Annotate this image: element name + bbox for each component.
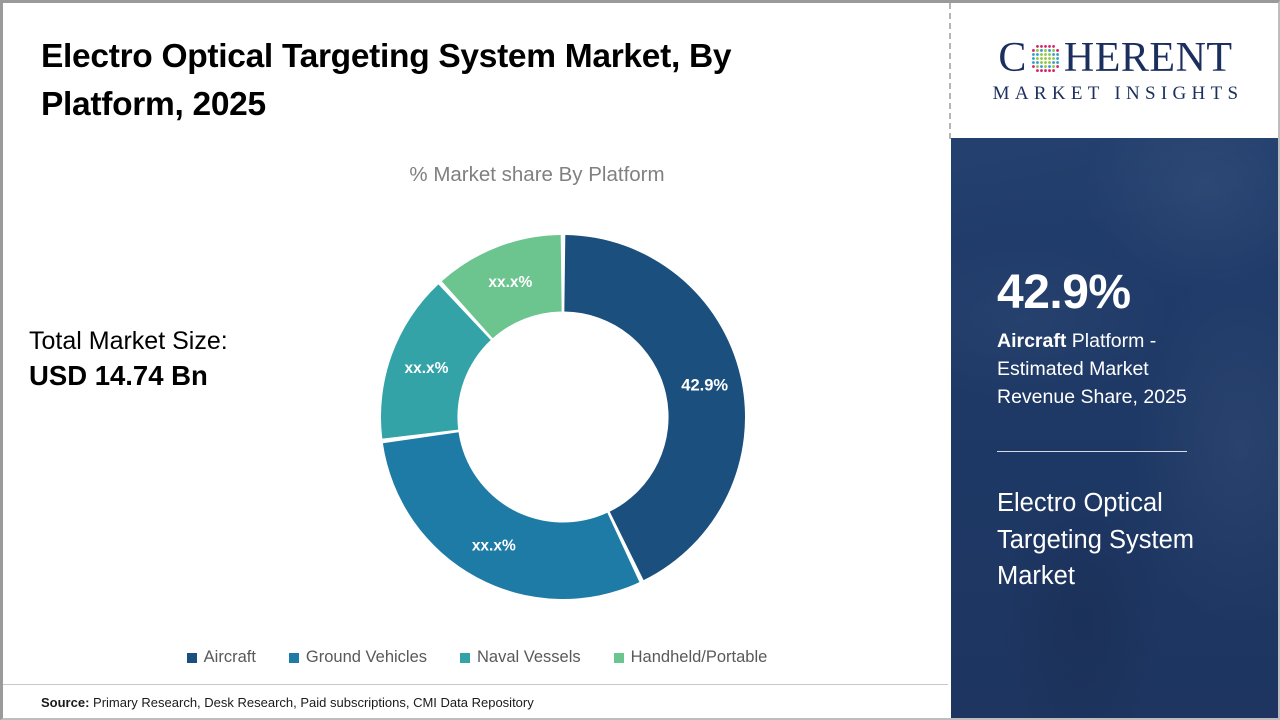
source-note: Source: Primary Research, Desk Research,… xyxy=(41,695,534,710)
globe-dot xyxy=(1032,57,1035,60)
globe-dot xyxy=(1044,53,1047,56)
donut-slice-label: xx.x% xyxy=(472,537,516,554)
donut-chart: 42.9%xx.x%xx.x%xx.x% xyxy=(381,235,745,599)
total-market-size-block: Total Market Size: USD 14.74 Bn xyxy=(29,325,329,394)
highlight-stat-caption: Aircraft Platform - Estimated Market Rev… xyxy=(997,328,1229,411)
legend-swatch-icon xyxy=(460,653,470,663)
globe-dot xyxy=(1036,65,1039,68)
chart-legend: AircraftGround VehiclesNaval VesselsHand… xyxy=(3,648,951,667)
globe-dot xyxy=(1048,69,1051,72)
page-title: Electro Optical Targeting System Market,… xyxy=(41,33,861,128)
logo-wordmark: C HERENT xyxy=(998,37,1232,79)
globe-dot xyxy=(1044,49,1047,52)
globe-dot xyxy=(1040,49,1043,52)
globe-dot xyxy=(1036,45,1039,48)
globe-dot xyxy=(1056,65,1059,68)
globe-dot xyxy=(1048,45,1051,48)
globe-dot xyxy=(1032,65,1035,68)
legend-label: Aircraft xyxy=(204,648,256,667)
globe-dot xyxy=(1036,61,1039,64)
legend-swatch-icon xyxy=(614,653,624,663)
globe-dot xyxy=(1052,65,1055,68)
legend-swatch-icon xyxy=(187,653,197,663)
globe-dot xyxy=(1052,45,1055,48)
globe-dot xyxy=(1048,61,1051,64)
chart-subtitle: % Market share By Platform xyxy=(3,163,951,187)
globe-dot xyxy=(1048,65,1051,68)
sidebar-market-title: Electro Optical Targeting System Market xyxy=(997,485,1237,594)
footer-divider xyxy=(3,684,948,685)
globe-dot xyxy=(1052,49,1055,52)
globe-dot xyxy=(1048,53,1051,56)
globe-dot xyxy=(1036,53,1039,56)
globe-dot xyxy=(1052,61,1055,64)
source-value: Primary Research, Desk Research, Paid su… xyxy=(93,695,534,710)
highlight-stat-category: Aircraft xyxy=(997,330,1066,352)
legend-label: Naval Vessels xyxy=(477,648,581,667)
globe-dot xyxy=(1044,69,1047,72)
globe-dot xyxy=(1040,61,1043,64)
source-label: Source: xyxy=(41,695,89,710)
globe-dot xyxy=(1036,57,1039,60)
legend-item[interactable]: Naval Vessels xyxy=(460,648,581,667)
globe-dots-icon xyxy=(1028,41,1063,76)
sidebar-content: 42.9% Aircraft Platform - Estimated Mark… xyxy=(997,138,1259,594)
globe-dot xyxy=(1044,61,1047,64)
globe-dot xyxy=(1032,53,1035,56)
legend-swatch-icon xyxy=(289,653,299,663)
globe-dot xyxy=(1056,53,1059,56)
logo-letter-c: C xyxy=(998,37,1027,79)
total-market-size-value: USD 14.74 Bn xyxy=(29,358,329,394)
logo-tagline: MARKET INSIGHTS xyxy=(988,83,1244,105)
legend-label: Ground Vehicles xyxy=(306,648,427,667)
globe-dot xyxy=(1048,49,1051,52)
legend-label: Handheld/Portable xyxy=(631,648,768,667)
donut-chart-svg: 42.9%xx.x%xx.x%xx.x% xyxy=(381,235,745,599)
globe-dot xyxy=(1036,49,1039,52)
globe-dot xyxy=(1056,49,1059,52)
globe-dot xyxy=(1044,57,1047,60)
logo-letters-herent: HERENT xyxy=(1064,37,1233,79)
globe-dot xyxy=(1032,49,1035,52)
donut-slice-label: 42.9% xyxy=(681,376,728,394)
brand-sidebar: C HERENT MARKET INSIGHTS 42.9% Aircraft … xyxy=(951,3,1280,720)
globe-dot xyxy=(1052,69,1055,72)
globe-dot xyxy=(1056,61,1059,64)
donut-slice-label: xx.x% xyxy=(488,274,532,291)
globe-dot xyxy=(1044,45,1047,48)
sidebar-divider xyxy=(997,451,1187,452)
donut-slice-group xyxy=(381,235,745,599)
globe-dot xyxy=(1040,69,1043,72)
globe-dot xyxy=(1032,61,1035,64)
legend-item[interactable]: Ground Vehicles xyxy=(289,648,427,667)
donut-slice-label: xx.x% xyxy=(404,360,448,377)
globe-dot xyxy=(1052,53,1055,56)
globe-dot xyxy=(1056,57,1059,60)
globe-dot xyxy=(1044,65,1047,68)
infographic-page: Electro Optical Targeting System Market,… xyxy=(0,0,1280,720)
legend-item[interactable]: Aircraft xyxy=(187,648,256,667)
globe-dot xyxy=(1040,45,1043,48)
total-market-size-label: Total Market Size: xyxy=(29,325,329,358)
donut-slice xyxy=(383,432,640,599)
globe-dot xyxy=(1040,57,1043,60)
globe-dot xyxy=(1040,65,1043,68)
globe-dot xyxy=(1052,57,1055,60)
company-logo[interactable]: C HERENT MARKET INSIGHTS xyxy=(951,3,1280,138)
highlight-stat-value: 42.9% xyxy=(997,268,1259,318)
chart-panel: Electro Optical Targeting System Market,… xyxy=(3,3,951,720)
globe-dot xyxy=(1048,57,1051,60)
globe-dot xyxy=(1040,53,1043,56)
legend-item[interactable]: Handheld/Portable xyxy=(614,648,768,667)
globe-dot xyxy=(1036,69,1039,72)
